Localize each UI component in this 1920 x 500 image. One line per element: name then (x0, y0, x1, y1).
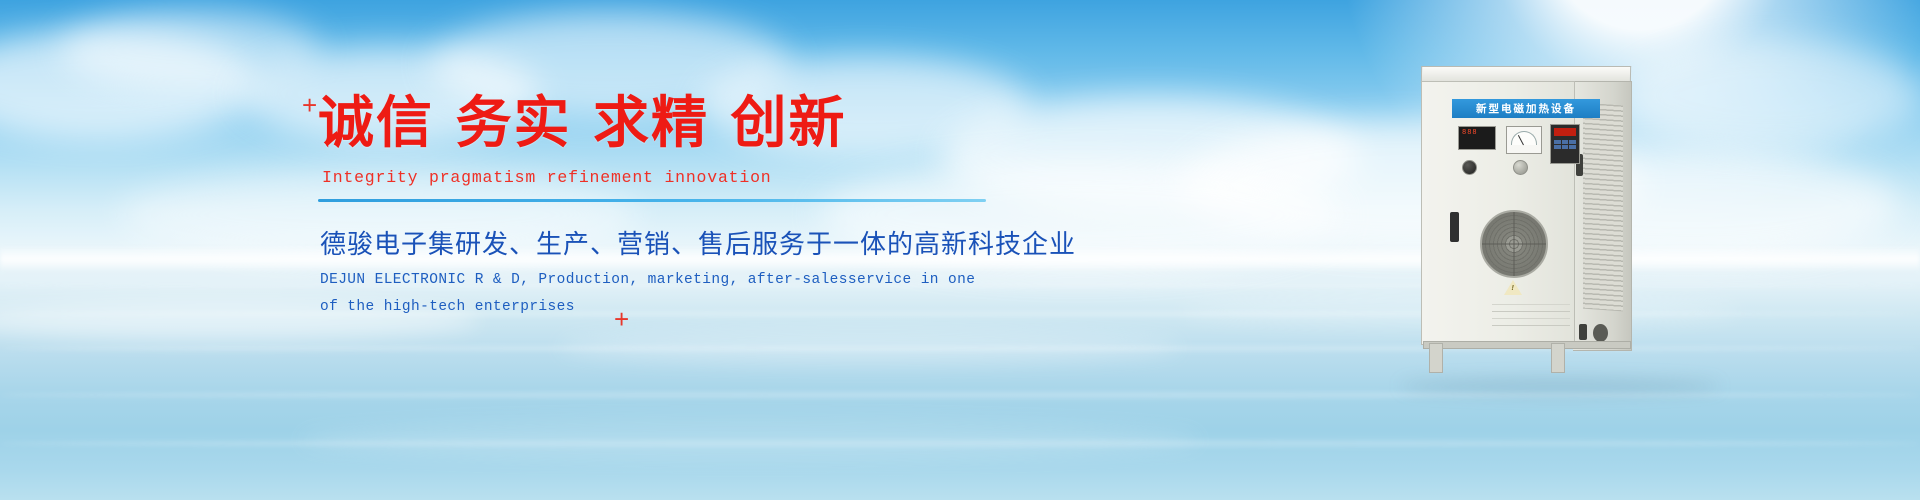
sea-sheen (560, 330, 1180, 364)
product-label-strip: 新型电磁加热设备 (1452, 99, 1600, 118)
side-outlet (1593, 324, 1608, 342)
front-handle (1450, 212, 1459, 242)
cooling-fan-icon (1480, 210, 1548, 278)
keypad-key (1569, 145, 1576, 149)
keypad-key (1569, 140, 1576, 144)
spec-line (1492, 325, 1570, 326)
description-english-line1: DEJUN ELECTRONIC R & D, Production, mark… (320, 272, 1018, 288)
description-english-line2: of the high-tech enterprises (320, 299, 1018, 315)
banner-text-block: 诚信 务实 求精 创新 Integrity pragmatism refinem… (318, 96, 1018, 315)
adjust-knob (1513, 160, 1528, 175)
ammeter-needle (1518, 135, 1524, 145)
warning-symbol: ! (1512, 285, 1514, 292)
digital-meter: 888 (1458, 126, 1496, 150)
cloud-decoration (60, 10, 320, 90)
control-keypad (1550, 124, 1580, 164)
selector-knob (1462, 160, 1477, 175)
analog-ammeter (1506, 126, 1542, 154)
description-chinese: 德骏电子集研发、生产、营销、售后服务于一体的高新科技企业 (320, 224, 1018, 261)
keypad-key (1554, 145, 1561, 149)
spec-line (1492, 304, 1570, 305)
spec-line (1492, 318, 1570, 319)
divider-rule (318, 199, 986, 202)
headline-english: Integrity pragmatism refinement innovati… (322, 168, 1018, 187)
headline-chinese: 诚信 务实 求精 创新 (318, 96, 1018, 152)
spec-plate (1492, 304, 1570, 332)
ventilation-louvers-icon (1583, 103, 1623, 312)
digital-meter-readout: 888 (1462, 129, 1495, 137)
keypad-buttons (1554, 140, 1576, 149)
product-image-induction-heater: 新型电磁加热设备 888 (1393, 66, 1723, 386)
product-label-text: 新型电磁加热设备 (1476, 101, 1576, 116)
sea-sheen (300, 420, 1200, 460)
cabinet-front-panel: 新型电磁加热设备 888 (1421, 81, 1575, 345)
hero-banner: + + 诚信 务实 求精 创新 Integrity pragmatism ref… (0, 0, 1920, 500)
ammeter-dial (1511, 131, 1537, 145)
warning-triangle-icon: ! (1504, 280, 1522, 295)
keypad-display (1554, 128, 1576, 136)
side-port (1579, 324, 1587, 340)
cabinet-leg (1551, 343, 1565, 373)
keypad-key (1554, 140, 1561, 144)
keypad-key (1562, 145, 1569, 149)
spec-line (1492, 311, 1570, 312)
cabinet-base-bar (1423, 341, 1631, 349)
cabinet-leg (1429, 343, 1443, 373)
cloud-decoration (0, 30, 260, 140)
plus-mark-icon: + (302, 92, 317, 118)
keypad-key (1562, 140, 1569, 144)
